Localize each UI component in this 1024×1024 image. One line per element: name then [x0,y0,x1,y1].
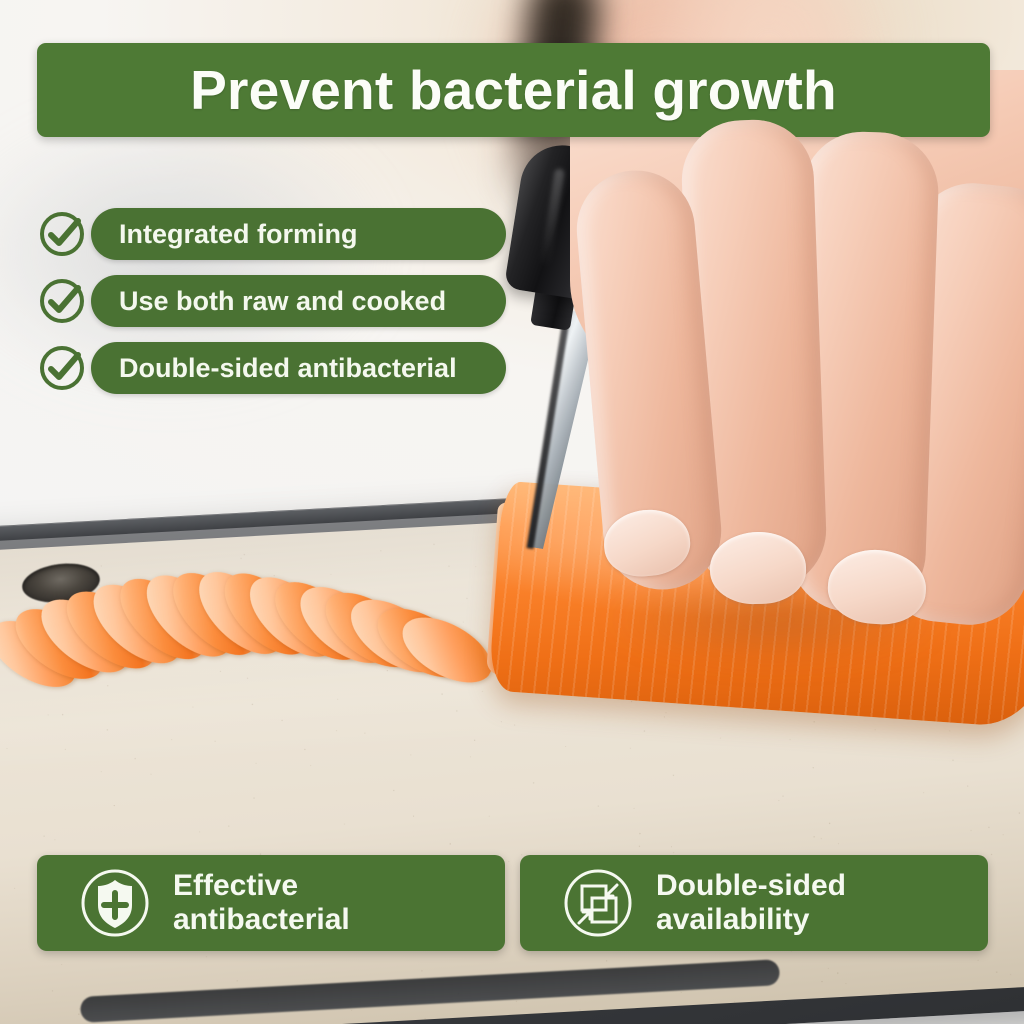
check-circle-icon [37,276,87,326]
check-circle-icon [37,343,87,393]
check-circle-icon [37,209,87,259]
page-title: Prevent bacterial growth [190,58,837,122]
badge-double-sided-availability: Double-sided availability [520,855,988,951]
hand [560,80,1024,640]
badge-effective-antibacterial: Effective antibacterial [37,855,505,951]
feature-label: Use both raw and cooked [119,286,446,317]
feature-label: Integrated forming [119,219,358,250]
feature-item: Double-sided antibacterial [37,342,506,394]
badge-label: Double-sided availability [656,869,846,937]
feature-item: Use both raw and cooked [37,275,506,327]
benefit-badges: Effective antibacterial Double-sided ava… [37,855,988,951]
carrot-slices [0,540,520,690]
feature-list: Integrated forming Use both raw and cook… [37,208,506,409]
badge-label: Effective antibacterial [173,869,350,937]
feature-label: Double-sided antibacterial [119,353,457,384]
headline-banner: Prevent bacterial growth [37,43,990,137]
feature-item: Integrated forming [37,208,506,260]
feature-pill: Double-sided antibacterial [91,342,506,394]
two-squares-arrows-icon [562,867,634,939]
shield-plus-icon [79,867,151,939]
fingernail-middle [709,531,806,605]
feature-pill: Use both raw and cooked [91,275,506,327]
feature-pill: Integrated forming [91,208,506,260]
product-infographic: Prevent bacterial growth Integrated form… [0,0,1024,1024]
